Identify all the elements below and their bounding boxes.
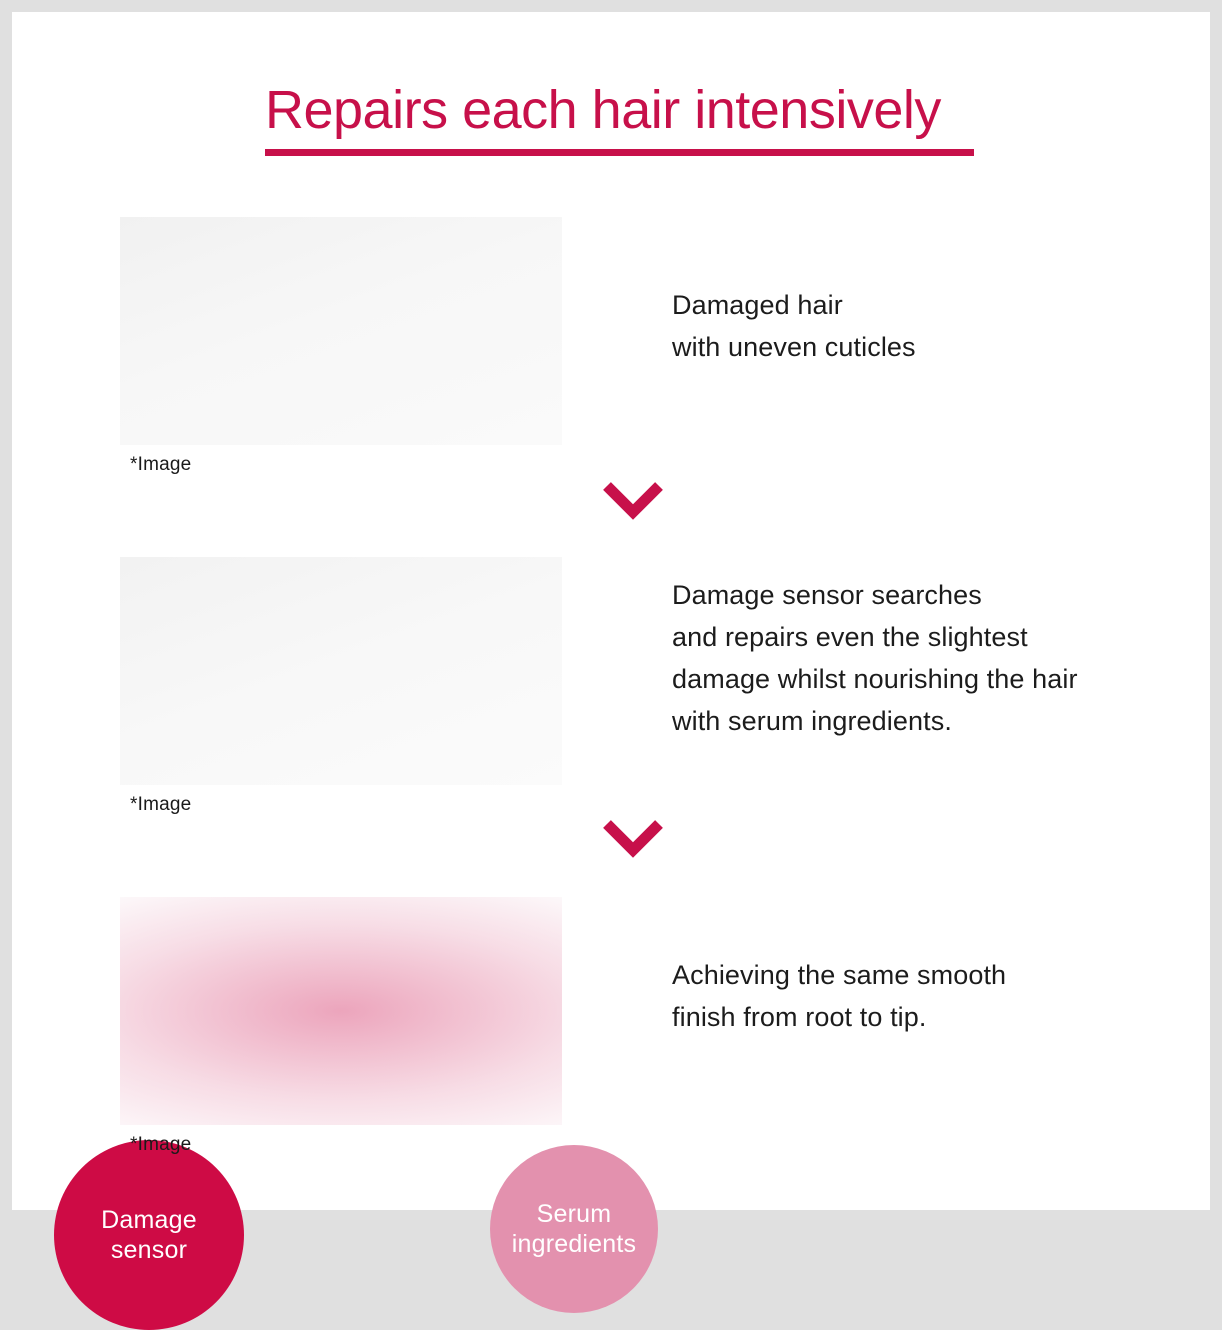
chevron-down-icon	[603, 482, 663, 520]
page-title: Repairs each hair intensively	[265, 80, 979, 140]
repairing-hair-description: Damage sensor searches and repairs even …	[672, 575, 1078, 742]
damaged-hair-caption: *Image	[130, 454, 590, 476]
callout-damage-sensor: Damage sensor	[54, 1140, 244, 1330]
page-title-block: Repairs each hair intensively	[265, 80, 979, 156]
damaged-hair-description: Damaged hair with uneven cuticles	[672, 285, 916, 369]
title-underline-rule	[265, 149, 974, 156]
result-hair-caption: *Image	[130, 1134, 590, 1156]
repairing-hair-caption: *Image	[130, 794, 590, 816]
result-hair-description: Achieving the same smooth finish from ro…	[672, 955, 1006, 1039]
infographic-frame: Repairs each hair intensively	[12, 12, 1210, 1210]
damaged-hair-background	[120, 217, 562, 445]
repairing-hair-background	[120, 557, 562, 785]
damaged-hair-image	[120, 217, 562, 445]
result-hair-background	[120, 897, 562, 1125]
result-hair-image	[120, 897, 562, 1125]
chevron-down-icon	[603, 820, 663, 858]
step-result-figure: *Image	[120, 897, 590, 1156]
repairing-hair-image	[120, 557, 562, 785]
callout-serum-ingredients: Serum ingredients	[490, 1145, 658, 1313]
step-repairing-figure: *Image	[120, 557, 590, 816]
step-damaged-figure: *Image	[120, 217, 590, 476]
